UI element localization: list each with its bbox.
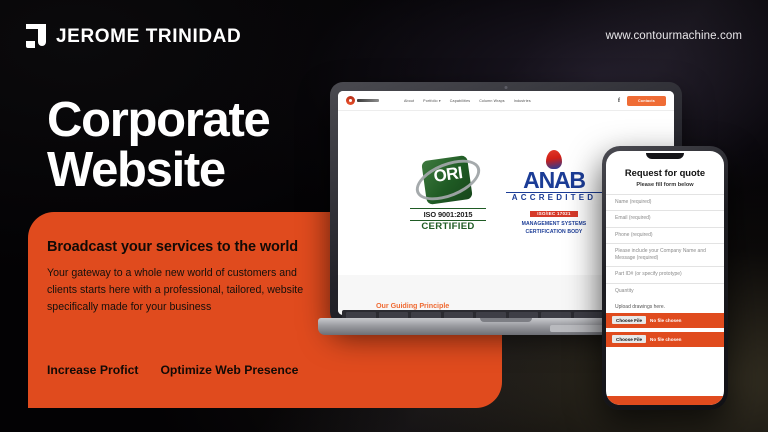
promo-body: Your gateway to a whole new world of cus… xyxy=(47,265,322,316)
ori-certified-text: CERTIFIED xyxy=(410,221,486,232)
file-status: No file chosen xyxy=(650,318,681,323)
website-navbar: About Portfolio ▾ Capabilities Column Wr… xyxy=(338,91,674,111)
webcam-icon xyxy=(505,86,508,89)
nav-item-about[interactable]: About xyxy=(404,99,414,103)
anab-badge: ANAB ACCREDITED ISO/IEC 17021 MANAGEMENT… xyxy=(506,150,602,236)
promo-title: Broadcast your services to the world xyxy=(47,239,298,255)
headline-line-2: Website xyxy=(47,146,269,196)
phone-screen: Request for quote Please fill form below… xyxy=(606,151,724,405)
file-upload-row[interactable]: Choose File No file chosen xyxy=(606,313,724,328)
website-nav-links: About Portfolio ▾ Capabilities Column Wr… xyxy=(404,99,531,103)
nav-item-industries[interactable]: Industries xyxy=(514,99,531,103)
phone-notch xyxy=(646,153,684,159)
navbar-right: f Contacts xyxy=(618,96,666,106)
anab-accredited-text: ACCREDITED xyxy=(506,192,602,202)
file-upload-row[interactable]: Choose File No file chosen xyxy=(606,332,724,347)
header: JEROME TRINIDAD www.contourmachine.com xyxy=(26,24,742,54)
choose-file-button[interactable]: Choose File xyxy=(612,335,646,343)
rfq-title: Request for quote xyxy=(606,167,724,178)
promo-tag-web-presence: Optimize Web Presence xyxy=(160,363,298,377)
page-title: Corporate Website xyxy=(47,96,269,196)
rfq-subtitle: Please fill form below xyxy=(606,182,724,188)
anab-sub-line-1: MANAGEMENT SYSTEMS xyxy=(506,221,602,228)
ori-iso-badge: ORI ISO 9001:2015 CERTIFIED xyxy=(410,155,486,232)
contacts-button[interactable]: Contacts xyxy=(627,96,666,106)
promo-tags: Increase Profict Optimize Web Presence xyxy=(47,363,298,377)
headline-line-1: Corporate xyxy=(47,96,269,146)
facebook-icon[interactable]: f xyxy=(618,98,620,104)
phone-bottom-bar xyxy=(606,396,724,405)
phone-mockup: Request for quote Please fill form below… xyxy=(602,146,728,410)
choose-file-button[interactable]: Choose File xyxy=(612,316,646,324)
quantity-field[interactable]: Quantity xyxy=(606,283,724,299)
email-field[interactable]: Email (required) xyxy=(606,210,724,226)
ori-logo-icon: ORI xyxy=(413,155,483,207)
part-id-field[interactable]: Part ID# (or specify prototype) xyxy=(606,266,724,282)
anab-wordmark: ANAB xyxy=(506,170,602,192)
upload-note: Upload drawings here. xyxy=(606,299,724,313)
message-field[interactable]: Please include your Company Name and Mes… xyxy=(606,243,724,267)
promo-tag-profit: Increase Profict xyxy=(47,363,138,377)
ori-iso-text: ISO 9001:2015 xyxy=(410,208,486,221)
anab-sub-line-2: CERTIFICATION BODY xyxy=(506,229,602,236)
phone-field[interactable]: Phone (required) xyxy=(606,227,724,243)
guiding-principle-title: Our Guiding Principle xyxy=(376,301,449,310)
name-field[interactable]: Name (required) xyxy=(606,194,724,210)
rfq-form: Name (required) Email (required) Phone (… xyxy=(606,194,724,347)
nav-item-column-wraps[interactable]: Column Wraps xyxy=(479,99,505,103)
anab-iso-strip: ISO/IEC 17021 xyxy=(530,211,577,217)
nav-item-capabilities[interactable]: Capabilities xyxy=(450,99,470,103)
nav-item-portfolio[interactable]: Portfolio ▾ xyxy=(423,99,441,103)
site-url: www.contourmachine.com xyxy=(606,30,742,42)
brand-name: JEROME TRINIDAD xyxy=(56,26,241,48)
file-status: No file chosen xyxy=(650,337,681,342)
j-monogram-icon xyxy=(26,24,48,50)
contour-machine-logo[interactable] xyxy=(346,96,379,105)
